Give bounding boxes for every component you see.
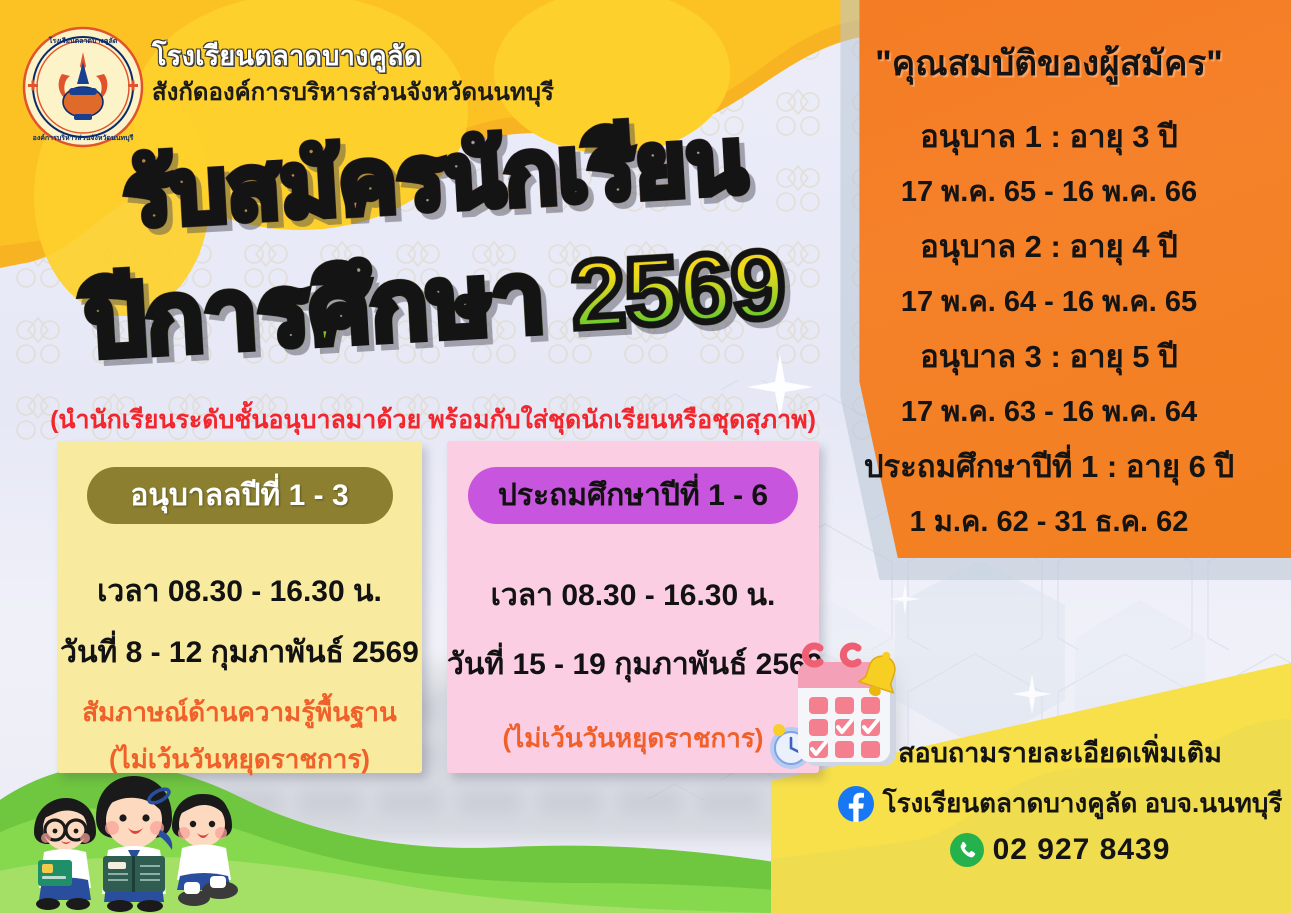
qualification-level-4: ประถมศึกษาปีที่ 1 : อายุ 6 ปี (829, 441, 1269, 491)
qualification-level-2: อนุบาล 2 : อายุ 4 ปี (829, 221, 1269, 271)
kindergarten-date: วันที่ 8 - 12 กุมภาพันธ์ 2569 (57, 629, 422, 676)
phone-number: 02 927 8439 (993, 833, 1171, 867)
kindergarten-time: เวลา 08.30 - 16.30 น. (57, 568, 422, 615)
primary-pill-label: ประถมศึกษาปีที่ 1 - 6 (468, 467, 798, 524)
school-name: โรงเรียนตลาดบางคูลัด (152, 34, 422, 77)
svg-text:โรงเรียนตลาดบางคูลัด: โรงเรียนตลาดบางคูลัด (48, 36, 118, 46)
students-reading-illustration (4, 762, 256, 913)
qualification-range-2: 17 พ.ค. 64 - 16 พ.ค. 65 (829, 278, 1269, 324)
kindergarten-note-1: สัมภาษณ์ด้านความรู้พื้นฐาน (57, 692, 422, 733)
qualifications-title: "คุณสมบัติของผู้สมัคร" (829, 36, 1269, 91)
title-line-2: ปีการศึกษา 2569 (0, 232, 872, 376)
primary-card: ประถมศึกษาปีที่ 1 - 6 เวลา 08.30 - 16.30… (447, 441, 819, 773)
qualification-range-4: 1 ม.ค. 62 - 31 ธ.ค. 62 (829, 498, 1269, 544)
qualification-range-3: 17 พ.ค. 63 - 16 พ.ค. 64 (829, 388, 1269, 434)
poster-title: รับสมัครนักเรียน ปีการศึกษา 2569 (0, 128, 870, 398)
facebook-icon[interactable] (838, 786, 874, 822)
qualification-level-3: อนุบาล 3 : อายุ 5 ปี (829, 331, 1269, 381)
qualification-range-1: 17 พ.ค. 65 - 16 พ.ค. 66 (829, 168, 1269, 214)
primary-note-1: (ไม่เว้นวันหยุดราชการ) (447, 718, 819, 759)
title-note: (นำนักเรียนระดับชั้นอนุบาลมาด้วย พร้อมกั… (0, 400, 866, 440)
facebook-page-name: โรงเรียนตลาดบางคูลัด อบจ.นนทบุรี (883, 783, 1283, 824)
poster-canvas: โรงเรียนตลาดบางคูลัด องค์การบริหารส่วนจั… (0, 0, 1291, 913)
kindergarten-card: อนุบาลลปีที่ 1 - 3 เวลา 08.30 - 16.30 น.… (57, 441, 422, 773)
school-department: สังกัดองค์การบริหารส่วนจังหวัดนนทบุรี (152, 72, 554, 111)
contact-block: สอบถามรายละเอียดเพิ่มเติม โรงเรียนตลาดบา… (845, 731, 1275, 867)
phone-icon[interactable] (950, 833, 984, 867)
title-line-1: รับสมัครนักเรียน (0, 110, 872, 246)
primary-date: วันที่ 15 - 19 กุมภาพันธ์ 2569 (447, 641, 819, 688)
contact-title: สอบถามรายละเอียดเพิ่มเติม (845, 731, 1275, 774)
qualification-level-1: อนุบาล 1 : อายุ 3 ปี (829, 111, 1269, 161)
facebook-row[interactable]: โรงเรียนตลาดบางคูลัด อบจ.นนทบุรี (845, 783, 1275, 824)
kindergarten-pill-label: อนุบาลลปีที่ 1 - 3 (87, 467, 393, 524)
phone-row[interactable]: 02 927 8439 (845, 833, 1275, 867)
qualifications-list: อนุบาล 1 : อายุ 3 ปี 17 พ.ค. 65 - 16 พ.ค… (829, 104, 1269, 544)
primary-time: เวลา 08.30 - 16.30 น. (447, 572, 819, 619)
